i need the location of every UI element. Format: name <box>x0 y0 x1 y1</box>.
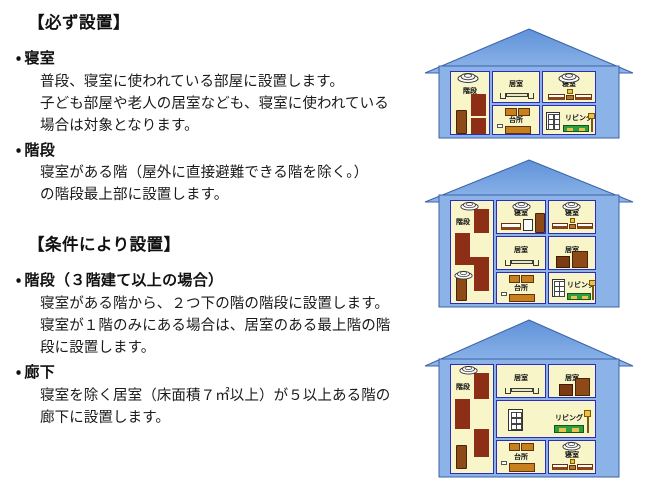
wardrobe-h2b <box>572 251 588 268</box>
bed-h2a <box>501 223 521 230</box>
floor-lamp-pole-h3 <box>587 416 589 433</box>
sofa-h2 <box>567 293 591 300</box>
bed-right-h2b <box>577 223 593 229</box>
bed-left-h2b <box>552 223 568 229</box>
bullet-title-stairs: ・階段 <box>16 140 420 162</box>
room-label-room: 居室 <box>497 247 545 254</box>
counter-h3 <box>509 463 535 472</box>
wall-cabinet-b-h1 <box>518 108 530 116</box>
door-h2 <box>456 277 467 301</box>
floor-lamp-pole-h1 <box>591 118 593 132</box>
lamp-h3 <box>570 459 575 464</box>
shelf-cell <box>516 424 522 430</box>
chair-left-h3a <box>505 388 511 394</box>
wall-cabinet-b-h3 <box>521 443 534 451</box>
room-b-h2: 居室 <box>548 236 596 270</box>
bullet-body-stairs: 寝室がある階（屋外に直接避難できる階を除く。） の階段最上部に設置します。 <box>40 162 420 206</box>
shelf-cell <box>554 124 560 130</box>
shelf-h1 <box>546 112 560 130</box>
room-a-h3: 居室 <box>496 364 546 398</box>
bullet-title-text: 階段（３階建て以上の場合） <box>24 272 223 289</box>
bed-left-h1 <box>548 94 565 100</box>
room-label-kitchen: 台所 <box>497 454 545 461</box>
sofa-cushion <box>582 296 588 299</box>
room-label-bedroom: 寝室 <box>549 452 595 459</box>
smoke-detector-icon <box>460 201 479 211</box>
smoke-detector-icon <box>459 365 478 375</box>
sink-h3 <box>501 461 507 465</box>
wardrobe-h3b <box>575 378 590 396</box>
stair-flight-1f <box>474 265 489 291</box>
bullet-title-bedroom: ・寝室 <box>16 48 420 70</box>
sofa-cushion <box>559 428 566 432</box>
sofa-cushion <box>571 296 577 299</box>
stair-flight-3f <box>474 209 489 233</box>
room-b-h3: 居室 <box>548 364 596 398</box>
nightstand-h3 <box>569 465 576 470</box>
chair-left-h1 <box>500 93 506 99</box>
section-heading-conditional: 【条件により設置】 <box>28 236 420 256</box>
table-h1 <box>506 93 528 97</box>
chair-right-h1 <box>528 93 534 99</box>
bed-left-h3 <box>552 464 568 470</box>
shelf-cell <box>559 291 565 297</box>
stair-flight-3f-h3 <box>474 373 489 399</box>
dresser-h3b <box>559 384 573 396</box>
room-label-room: 居室 <box>497 375 545 382</box>
wall-cabinet-a-h2 <box>509 275 520 283</box>
room-living-h3: リビング <box>496 400 596 438</box>
sink-h2 <box>501 292 507 296</box>
page-root: 【必ず設置】 ・寝室 普段、寝室に使われている部屋に設置します。 子ども部屋や老… <box>0 0 650 492</box>
sofa-h3 <box>554 425 584 433</box>
smoke-detector-icon <box>512 201 531 211</box>
chair-right-h3a <box>533 388 539 394</box>
smoke-detector-icon <box>457 72 479 83</box>
room-a-h2: 居室 <box>496 236 546 270</box>
shelf-h3 <box>508 409 523 431</box>
text-column: 【必ず設置】 ・寝室 普段、寝室に使われている部屋に設置します。 子ども部屋や老… <box>0 0 420 492</box>
section-heading-required: 【必ず設置】 <box>28 14 420 34</box>
stair-flight-lower <box>471 118 486 134</box>
bullet-body-corridor: 寝室を除く居室（床面積７㎡以上）が５以上ある階の 廊下に設置します。 <box>40 385 420 429</box>
door-h3 <box>456 445 467 469</box>
door-h1 <box>456 110 467 134</box>
room-living-h2: リビング <box>548 272 596 304</box>
sofa-cushion <box>572 428 579 432</box>
room-stairs-h3: 階段 <box>450 364 494 474</box>
door-bedroom-h2a <box>535 213 545 233</box>
counter-h2 <box>509 294 535 302</box>
house-diagram-1: 階段 居室 寝室 台所 リビング <box>423 27 635 139</box>
chair-left-h2a <box>505 260 511 266</box>
house-diagram-3: 階段 居室 居室 リビング <box>423 318 635 480</box>
floor-lamp-pole-h2 <box>592 285 594 300</box>
nightstand-h1 <box>566 95 574 100</box>
wall-cabinet-a-h3 <box>509 443 520 451</box>
shelf-h2 <box>552 279 565 297</box>
list-item-stairs-3f: ・階段（３階建て以上の場合） 寝室がある階から、２つ下の階の階段に設置します。 … <box>14 270 420 359</box>
list-item-corridor: ・廊下 寝室を除く居室（床面積７㎡以上）が５以上ある階の 廊下に設置します。 <box>14 362 420 429</box>
floor-lamp-shade-h1 <box>588 113 595 119</box>
wall-cabinet-b-h2 <box>521 275 534 283</box>
room-living-h1: リビング <box>542 105 596 135</box>
dresser-h2b <box>556 256 570 268</box>
lamp-h1 <box>567 89 573 94</box>
sofa-h1 <box>563 125 589 132</box>
bullet-title-text: 廊下 <box>24 364 55 381</box>
room-label-living: リビング <box>555 415 583 422</box>
floor-lamp-shade-h2 <box>589 280 596 286</box>
stair-landing-h2 <box>455 257 489 265</box>
chair-right-h2a <box>533 260 539 266</box>
bullet-title-stairs-3f: ・階段（３階建て以上の場合） <box>16 270 420 292</box>
shelf-h2a <box>523 219 533 231</box>
stair-flight-2f-a <box>455 233 470 257</box>
bullet-dot: ・ <box>16 50 21 67</box>
room-kitchen-h1: 台所 <box>492 105 540 135</box>
room-label-bedroom: 寝室 <box>549 210 595 217</box>
smoke-detector-icon <box>454 270 473 280</box>
room-kitchen-h2: 台所 <box>496 272 546 304</box>
list-item-bedroom: ・寝室 普段、寝室に使われている部屋に設置します。 子ども部屋や老人の居室なども… <box>14 48 420 137</box>
bullet-dot: ・ <box>16 142 21 159</box>
bullet-title-text: 階段 <box>24 142 55 159</box>
floor-lamp-shade-h3 <box>584 410 591 417</box>
bed-right-h3 <box>577 464 593 470</box>
room-kitchen-h3: 台所 <box>496 440 546 474</box>
bullet-body-stairs-3f: 寝室がある階から、２つ下の階の階段に設置します。 寝室が１階のみにある場合は、居… <box>40 293 420 359</box>
nightstand-h2b <box>569 224 576 229</box>
bullet-dot: ・ <box>16 272 21 289</box>
smoke-detector-icon <box>562 441 581 451</box>
table-h3a <box>511 388 533 392</box>
sink-h1 <box>497 124 503 128</box>
smoke-detector-icon <box>558 72 580 83</box>
list-item-stairs: ・階段 寝室がある階（屋外に直接避難できる階を除く。） の階段最上部に設置します… <box>14 140 420 207</box>
room-label-kitchen: 台所 <box>497 285 545 292</box>
lamp-h2b <box>570 218 575 223</box>
sofa-cushion <box>567 128 573 131</box>
counter-h1 <box>505 126 531 134</box>
bullet-dot: ・ <box>16 364 21 381</box>
room-label-room: 居室 <box>493 81 539 88</box>
room-livingroom-upper-h1: 居室 <box>492 71 540 103</box>
stair-flight-2f-h3 <box>455 399 470 429</box>
stair-flight-1f-h3 <box>474 429 489 457</box>
bullet-body-bedroom: 普段、寝室に使われている部屋に設置します。 子ども部屋や老人の居室なども、寝室に… <box>40 71 420 137</box>
stair-flight-upper <box>471 94 486 116</box>
room-label-kitchen: 台所 <box>493 117 539 124</box>
room-stairs-h2: 階段 <box>450 200 494 304</box>
bullet-title-corridor: ・廊下 <box>16 362 420 384</box>
wall-cabinet-a-h1 <box>505 108 517 116</box>
house-diagram-2: 階段 寝室 寝室 居室 居室 <box>423 158 635 310</box>
bullet-title-text: 寝室 <box>24 50 55 67</box>
bed-right-h1 <box>575 94 592 100</box>
table-h2a <box>511 260 533 264</box>
smoke-detector-icon <box>562 201 581 211</box>
sofa-cushion <box>579 128 585 131</box>
